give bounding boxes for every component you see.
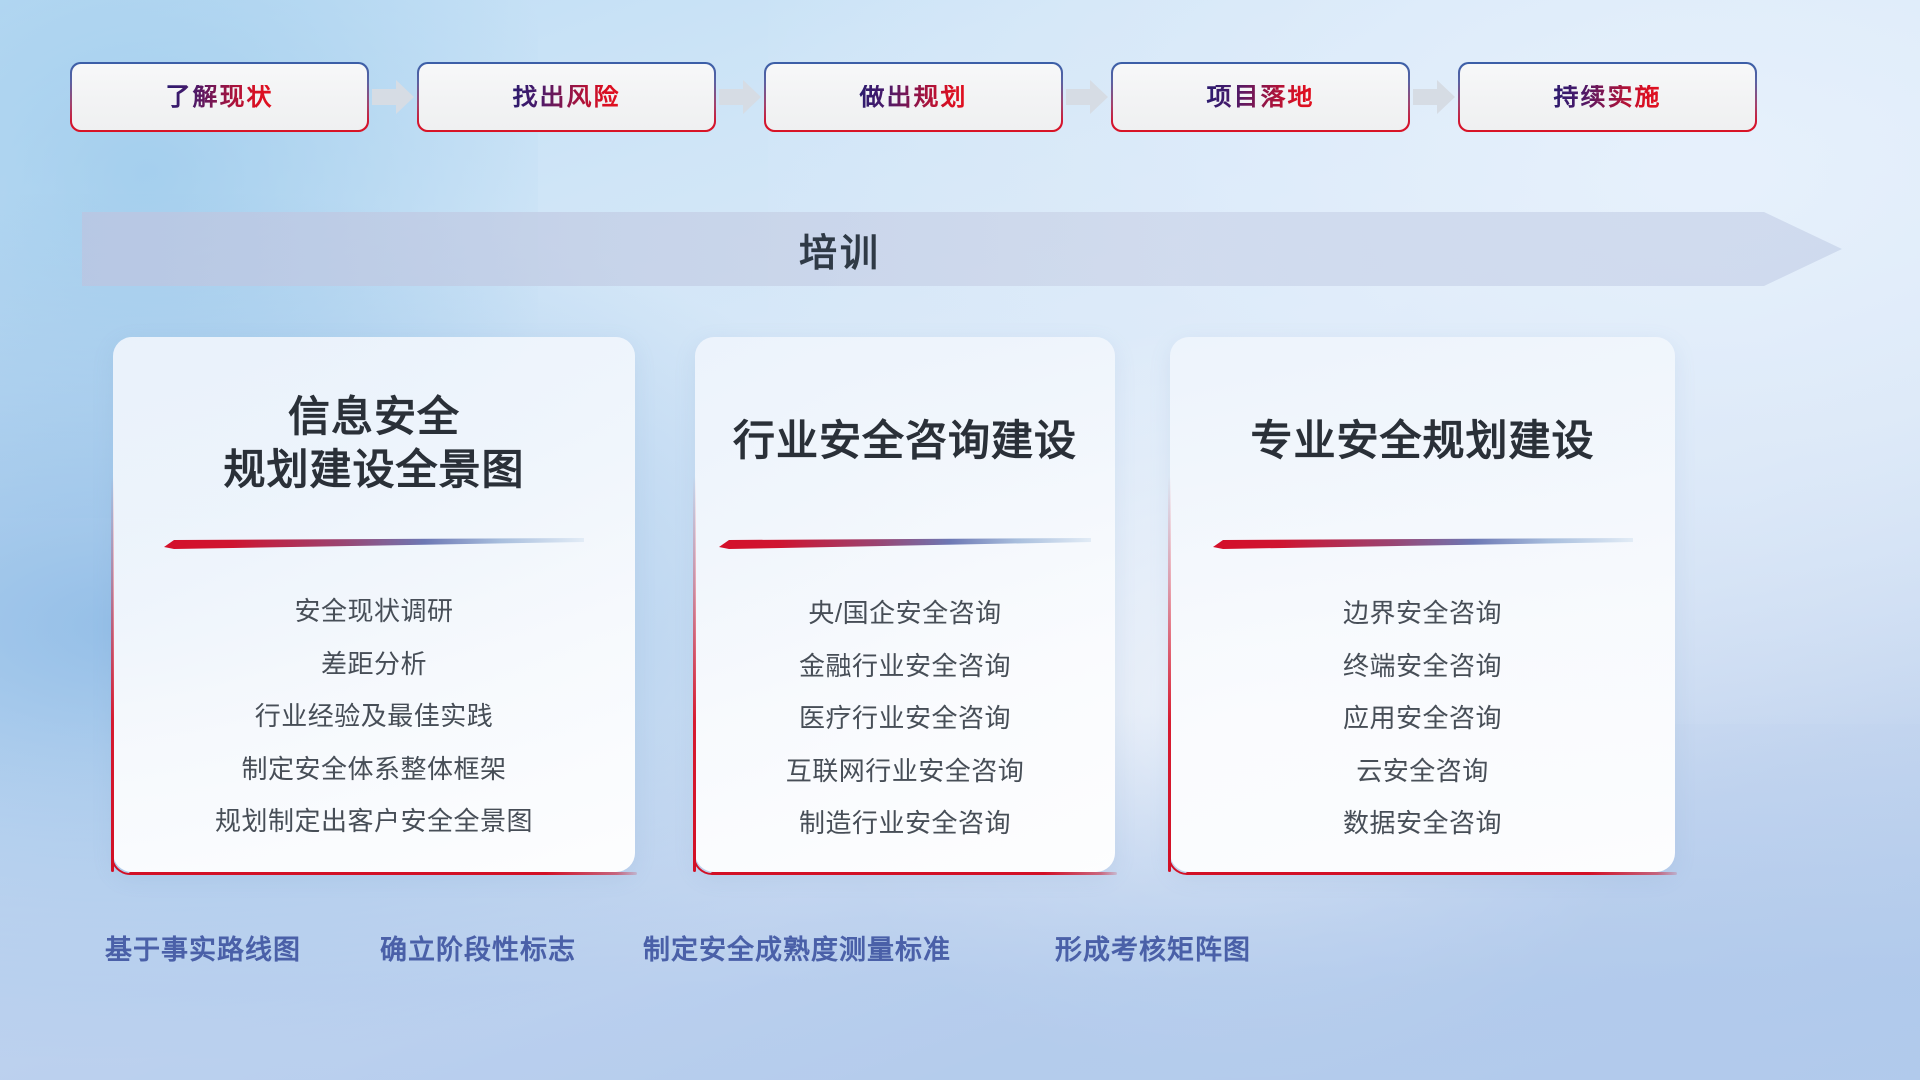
card-1-title: 信息安全 规划建设全景图 [113, 391, 635, 497]
card-3-title-line-1: 专业安全规划建设 [1170, 415, 1675, 468]
process-step-1[interactable]: 了解现状 [72, 64, 367, 130]
list-item: 互联网行业安全咨询 [786, 757, 1025, 786]
bottom-label-2: 确立阶段性标志 [380, 928, 576, 967]
card-2-bottom-accent [711, 872, 1117, 875]
list-item: 数据安全咨询 [1343, 809, 1502, 838]
step-arrow-icon-2 [714, 64, 766, 130]
card-professional-security-planning[interactable]: 专业安全规划建设 边界安全咨询 [1170, 337, 1675, 872]
list-item: 制造行业安全咨询 [786, 809, 1025, 838]
list-item: 央/国企安全咨询 [786, 599, 1025, 628]
card-1-list: 安全现状调研 差距分析 行业经验及最佳实践 制定安全体系整体框架 规划制定出客户… [113, 597, 635, 836]
process-step-3[interactable]: 做出规划 [766, 64, 1061, 130]
step-arrow-icon-1 [367, 64, 419, 130]
card-2-title: 行业安全咨询建设 [695, 415, 1115, 468]
bottom-label-3: 制定安全成熟度测量标准 [643, 928, 951, 967]
list-item: 边界安全咨询 [1343, 599, 1502, 628]
list-item: 应用安全咨询 [1343, 704, 1502, 733]
card-1-title-line-1: 信息安全 [113, 391, 635, 444]
list-item: 制定安全体系整体框架 [215, 755, 533, 784]
process-step-5-label: 持续实施 [1553, 85, 1661, 110]
card-1-bottom-accent [129, 872, 637, 875]
list-item: 医疗行业安全咨询 [786, 704, 1025, 733]
cards-row: 信息安全 规划建设全景图 安全现 [0, 337, 1920, 877]
process-step-4-label: 项目落地 [1206, 85, 1314, 110]
list-item: 终端安全咨询 [1343, 652, 1502, 681]
process-step-2-label: 找出风险 [512, 85, 620, 110]
step-arrow-icon-4 [1408, 64, 1460, 130]
card-info-security-blueprint[interactable]: 信息安全 规划建设全景图 安全现 [113, 337, 635, 872]
list-item: 差距分析 [215, 650, 533, 679]
bottom-label-row: 基于事实路线图 确立阶段性标志 制定安全成熟度测量标准 形成考核矩阵图 [0, 928, 1920, 972]
card-3-corner-accent [1168, 849, 1194, 875]
card-1-corner-accent [111, 849, 137, 875]
card-2-corner-accent [693, 849, 719, 875]
process-step-5[interactable]: 持续实施 [1460, 64, 1755, 130]
process-step-1-label: 了解现状 [165, 85, 273, 110]
card-industry-security-consulting[interactable]: 行业安全咨询建设 央/国企安全咨询 [695, 337, 1115, 872]
card-2-divider [695, 535, 1115, 553]
list-item: 金融行业安全咨询 [786, 652, 1025, 681]
bottom-label-1: 基于事实路线图 [105, 928, 301, 967]
training-banner-label-wrap: 培训 [0, 212, 1680, 286]
list-item: 安全现状调研 [215, 597, 533, 626]
step-arrow-icon-3 [1061, 64, 1113, 130]
process-step-3-label: 做出规划 [859, 85, 967, 110]
card-2-title-line-1: 行业安全咨询建设 [695, 415, 1115, 468]
card-1-divider [113, 535, 635, 553]
card-3-divider [1170, 535, 1675, 553]
list-item: 云安全咨询 [1343, 757, 1502, 786]
bottom-label-4: 形成考核矩阵图 [1055, 928, 1251, 967]
card-3-list: 边界安全咨询 终端安全咨询 应用安全咨询 云安全咨询 数据安全咨询 [1170, 599, 1675, 838]
card-3-bottom-accent [1186, 872, 1677, 875]
list-item: 规划制定出客户安全全景图 [215, 807, 533, 836]
process-step-2[interactable]: 找出风险 [419, 64, 714, 130]
card-1-title-line-2: 规划建设全景图 [113, 444, 635, 497]
training-banner-label: 培训 [799, 222, 881, 277]
card-3-title: 专业安全规划建设 [1170, 415, 1675, 468]
process-step-4[interactable]: 项目落地 [1113, 64, 1408, 130]
card-2-list: 央/国企安全咨询 金融行业安全咨询 医疗行业安全咨询 互联网行业安全咨询 制造行… [695, 599, 1115, 838]
process-step-bar: 了解现状 找出风险 做出规划 项目落地 持续实施 [0, 62, 1920, 132]
list-item: 行业经验及最佳实践 [215, 702, 533, 731]
